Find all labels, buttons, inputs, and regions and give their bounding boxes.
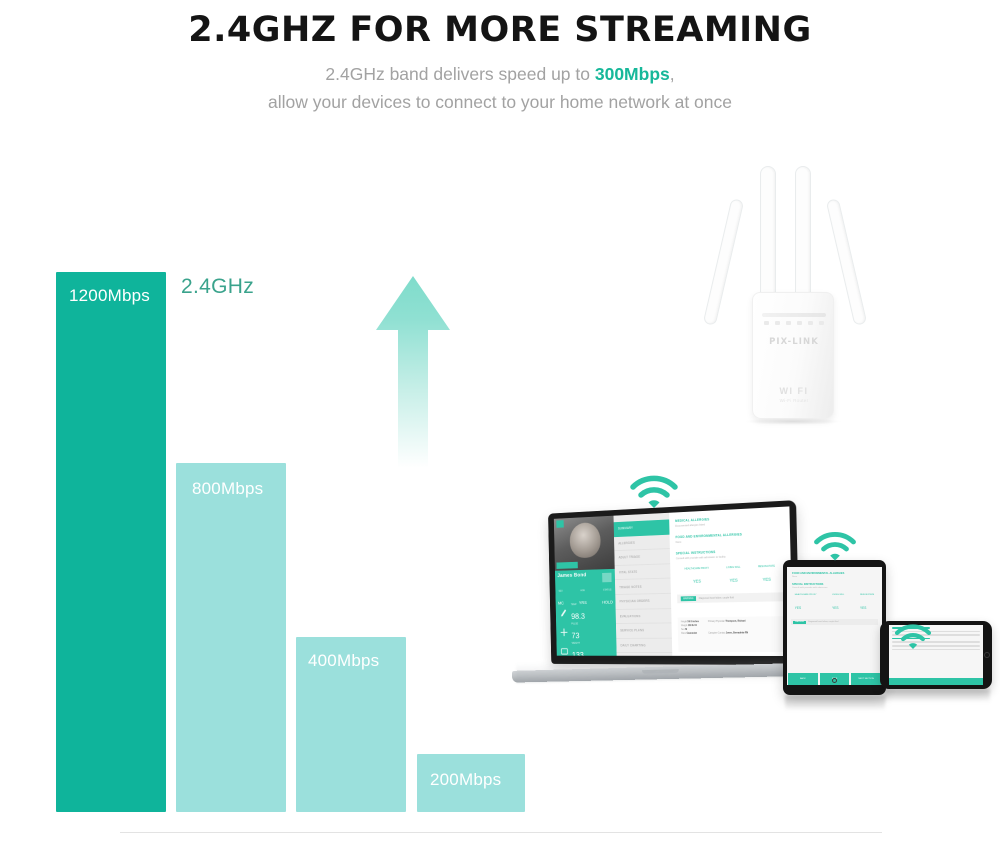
footer-key: Caregiver Contact (708, 633, 725, 635)
vitals-list: TEMP 98.3 PULSE 73 (559, 603, 616, 656)
patient-detail-footer: Height 5ft 8 inches Weight 183 lb 00 Sex… (677, 616, 786, 652)
laptop-dashboard-ui: James Bond SEX MC AGE YRS (554, 506, 793, 656)
tablet-reflection (785, 695, 885, 711)
bar-label-1200mbps: 1200Mbps (69, 286, 150, 306)
menu-item-triage-notes[interactable]: TRIAGE NOTES (615, 579, 671, 595)
tablet-directive-row: HEALTHCARE PROXY YES LIVING WILL YES RES… (787, 594, 882, 614)
menu-item-evaluations[interactable]: EVALUATIONS (615, 609, 671, 624)
attr-key: AGE (579, 589, 587, 592)
menu-item-service-plans[interactable]: SERVICE PLANS (616, 624, 672, 639)
warning-text: Diagnosed heart failure, couple fluid (808, 621, 838, 623)
router-led (808, 321, 813, 325)
directive-key: LIVING WILL (726, 566, 740, 569)
bar-label-800mbps: 800Mbps (192, 479, 263, 499)
footer-key: Race (681, 633, 686, 635)
footer-key: Height (681, 621, 687, 623)
router-led (786, 321, 791, 325)
tablet-section-title: SPECIAL INSTRUCTIONS (792, 583, 877, 586)
dashboard-menu[interactable]: SUMMARY ALLERGIES ADULT TRIAGE VITAL STA… (613, 513, 672, 656)
router-antenna-1 (703, 198, 744, 326)
vital-row: TEMP 98.3 (559, 603, 614, 623)
page-title: 2.4GHZ FOR MORE STREAMING (0, 10, 1000, 50)
directive-value: YES (763, 577, 771, 582)
phone-reflection (884, 689, 990, 703)
speed-highlight: 300Mbps (595, 64, 670, 84)
pulse-icon (559, 627, 568, 637)
bar-label-200mbps: 200Mbps (430, 770, 501, 790)
tablet-device: FOOD AND ENVIRONMENTAL ALLERGIES None SP… (783, 560, 886, 695)
bar-800mbps (176, 463, 286, 812)
wifi-signal-tablet-icon (812, 527, 858, 569)
router-led (775, 321, 780, 325)
wifi-router-device: PIX-LINK WI FI Wi-Fi Router (700, 150, 900, 430)
bar-1200mbps (56, 272, 166, 812)
directive-key: LIVING WILL (832, 594, 844, 596)
bottom-divider (120, 832, 882, 833)
warning-badge: WARNING (793, 621, 806, 624)
device-group: James Bond SEX MC AGE YRS (440, 495, 1000, 740)
vital-key: PULSE (571, 622, 579, 626)
directive-key: HEALTHCARE PROXY (795, 594, 817, 596)
directive-item: LIVING WILL YES (726, 566, 741, 587)
menu-item-touch-charting[interactable]: TOUCH CHARTING (616, 653, 672, 656)
router-led (797, 321, 802, 325)
vital-value: 133 (572, 650, 584, 656)
footer-value: Thompson, Richard (725, 621, 745, 623)
monitor-icon (560, 647, 569, 656)
avatar (569, 522, 601, 559)
tablet-back-button[interactable]: BACK (788, 673, 818, 685)
warning-text: Diagnosed heart failure, couple fluid (699, 596, 734, 600)
patient-id-pill (602, 572, 612, 582)
bar-label-400mbps: 400Mbps (308, 651, 379, 671)
directive-value: YES (832, 606, 838, 610)
patient-photo (554, 516, 615, 571)
footer-value: Caucasian (687, 633, 697, 635)
vital-row: WEIGHT 133 (559, 642, 614, 656)
menu-item-physician-orders[interactable]: PHYSICIAN ORDERS (615, 594, 671, 610)
home-button-icon[interactable] (984, 652, 990, 658)
router-led (819, 321, 824, 325)
patient-sidebar: James Bond SEX MC AGE YRS (554, 516, 617, 656)
vital-value: 73 (571, 630, 579, 639)
attr-key: SEX (558, 590, 564, 593)
warning-badge: WARNING (680, 596, 696, 601)
directive-key: RESUSCITATE (758, 565, 775, 568)
badge-icon (556, 520, 564, 527)
patient-name: James Bond (557, 573, 586, 579)
tablet-directive-item: HEALTHCARE PROXY YES (795, 594, 817, 614)
footer-value: M (685, 629, 687, 631)
home-button-icon[interactable] (832, 678, 837, 683)
router-shadow (744, 418, 842, 425)
tablet-directive-item: LIVING WILL YES (832, 594, 844, 614)
phone-button-bar[interactable] (889, 678, 983, 685)
router-led-row (764, 321, 824, 327)
vital-value: 98.3 (571, 611, 585, 620)
subtitle-text-before: 2.4GHz band delivers speed up to (325, 64, 594, 84)
laptop-device: James Bond SEX MC AGE YRS (460, 495, 800, 690)
footer-column-left: Height 5ft 8 inches Weight 183 lb 00 Sex… (681, 620, 700, 649)
wifi-signal-laptop-icon (628, 470, 680, 517)
footer-column-right: Primary Physician Thompson, Richard Care… (708, 620, 749, 650)
tablet-section-body: None (792, 576, 877, 578)
vital-row: PULSE 73 (559, 622, 614, 642)
tablet-directive-item: RESUSCITATE YES (860, 594, 874, 614)
attr-key: STATUS (602, 589, 613, 592)
tablet-warning-strip: WARNING Diagnosed heart failure, couple … (791, 619, 878, 625)
directive-value: YES (795, 606, 801, 610)
menu-item-vital-stats[interactable]: VITAL STATS (614, 564, 670, 580)
footer-key: Primary Physician (708, 621, 725, 623)
product-feature-banner: 2.4GHZ FOR MORE STREAMING 2.4GHz band de… (0, 0, 1000, 854)
footer-value: Jones, Bernadette RN (726, 632, 748, 634)
directive-item: HEALTHCARE PROXY YES (685, 567, 710, 588)
directive-key: HEALTHCARE PROXY (685, 567, 710, 571)
directive-value: YES (693, 579, 701, 584)
menu-item-daily-charting[interactable]: DAILY CHARTING (616, 638, 672, 653)
arrow-shape (376, 276, 450, 468)
wifi-signal-phone-icon (893, 620, 933, 657)
router-body: PIX-LINK WI FI Wi-Fi Router (752, 292, 834, 419)
growth-arrow (368, 268, 458, 468)
router-vent-slot (762, 313, 826, 317)
subtitle-line-2: allow your devices to connect to your ho… (0, 92, 1000, 113)
directive-key: RESUSCITATE (860, 594, 874, 596)
directive-value: YES (860, 606, 866, 610)
tablet-dashboard-ui: FOOD AND ENVIRONMENTAL ALLERGIES None SP… (787, 567, 882, 685)
tablet-section-body: Consult with provider with admission (792, 587, 877, 589)
laptop-screen: James Bond SEX MC AGE YRS (548, 500, 800, 665)
directive-value: YES (729, 578, 737, 583)
vital-key: TEMP (571, 603, 585, 607)
tablet-section-title: FOOD AND ENVIRONMENTAL ALLERGIES (792, 572, 877, 575)
thermometer-icon (559, 608, 568, 618)
subtitle-text-after: , (670, 64, 675, 84)
subtitle-line-1: 2.4GHz band delivers speed up to 300Mbps… (0, 64, 1000, 85)
router-sub-label: Wi-Fi Router (753, 398, 835, 403)
directive-row: HEALTHCARE PROXY YES LIVING WILL YES RES… (676, 564, 784, 587)
warning-strip: WARNING Diagnosed heart failure, couple … (677, 592, 785, 603)
tablet-next-section-button[interactable]: NEXT SECTION (851, 673, 881, 685)
footer-value: 183 lb 00 (688, 625, 697, 627)
footer-key: Weight (681, 625, 687, 627)
status-tag (557, 562, 578, 568)
router-wifi-label: WI FI (753, 386, 835, 396)
vital-key: WEIGHT (572, 641, 584, 645)
router-led (764, 321, 769, 325)
router-brand-label: PIX-LINK (753, 337, 835, 347)
dashboard-content: MEDICAL ALLERGIES Documented allergies l… (669, 506, 793, 656)
footer-value: 5ft 8 inches (687, 621, 698, 623)
band-label-2-4ghz: 2.4GHz (181, 275, 254, 299)
directive-item: RESUSCITATE YES (758, 565, 775, 586)
